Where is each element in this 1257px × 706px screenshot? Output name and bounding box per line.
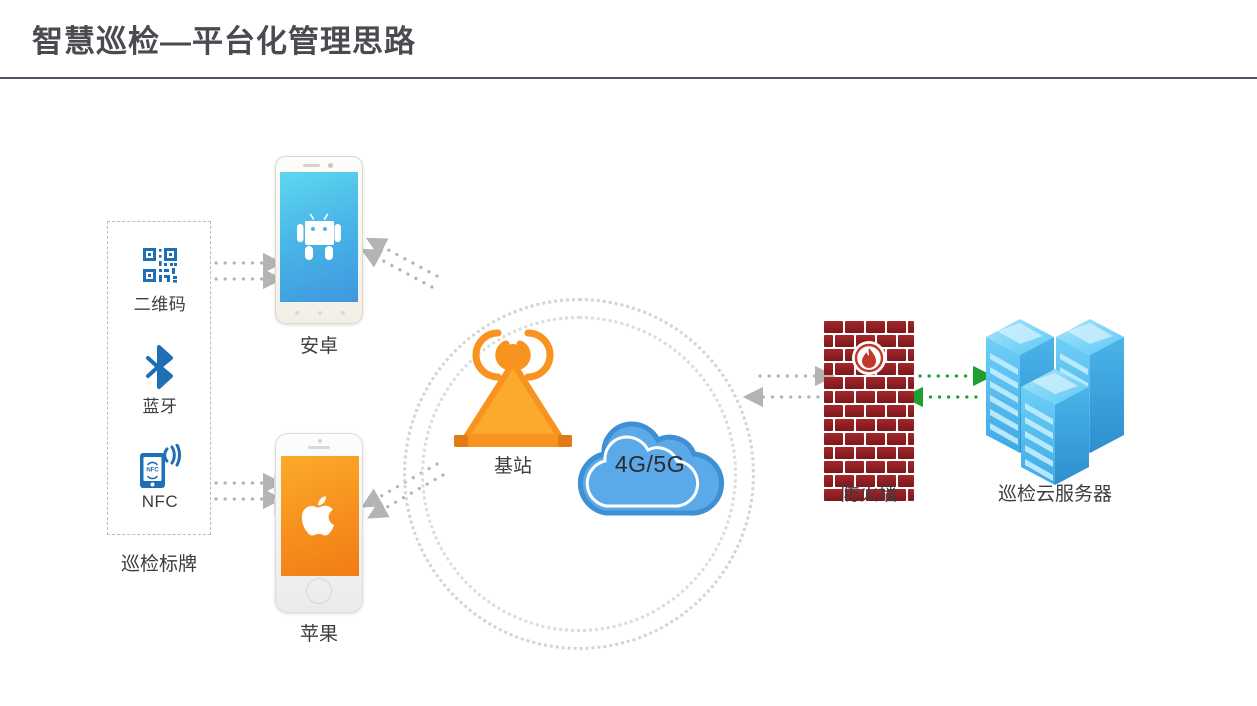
- tag-item-label: 蓝牙: [108, 392, 212, 417]
- cloud-server-label: 巡检云服务器: [975, 479, 1135, 506]
- front-camera: [318, 439, 322, 443]
- cloud-label: 4G/5G: [562, 451, 738, 478]
- connector-tag-to-android: [216, 263, 266, 279]
- android-phone-label: 安卓: [247, 331, 391, 358]
- server-stack-icon: [980, 301, 1130, 501]
- firewall-icon: [824, 321, 914, 501]
- android-robot-icon: [296, 212, 342, 262]
- bluetooth-icon: [108, 344, 212, 390]
- tag-item-qr-code[interactable]: 二维码: [108, 242, 212, 315]
- volume-down-button[interactable]: [274, 498, 276, 515]
- tag-item-bluetooth[interactable]: 蓝牙: [108, 344, 212, 417]
- diagram-canvas: 二维码 蓝牙 NFC: [0, 79, 1257, 706]
- connector-firewall-to-servers: [920, 376, 976, 397]
- android-screen: [280, 172, 358, 302]
- page-header: 智慧巡检—平台化管理思路: [0, 0, 1257, 78]
- earpiece-speaker: [303, 164, 320, 167]
- iphone-device[interactable]: [275, 433, 363, 613]
- inspection-tag-panel[interactable]: 二维码 蓝牙 NFC: [107, 221, 211, 535]
- nfc-icon: NFC: [108, 444, 212, 490]
- tag-panel-label: 巡检标牌: [87, 549, 231, 576]
- cell-tower-icon: [448, 311, 578, 471]
- ios-screen: [281, 456, 359, 576]
- apple-logo-icon: [300, 493, 340, 539]
- firewall-flame-icon: [852, 341, 886, 375]
- connector-network-to-android: [376, 246, 437, 287]
- earpiece-speaker: [308, 446, 330, 449]
- svg-text:NFC: NFC: [146, 468, 159, 474]
- firewall-label: 防火墙: [794, 479, 944, 506]
- tag-item-nfc[interactable]: NFC NFC: [108, 444, 212, 512]
- front-camera: [328, 163, 333, 168]
- cloud-icon: 4G/5G: [562, 409, 738, 527]
- tag-item-label: NFC: [108, 492, 212, 512]
- android-soft-keys[interactable]: [286, 311, 354, 315]
- home-button[interactable]: [306, 578, 332, 604]
- connector-network-to-firewall: [760, 376, 818, 397]
- connector-tag-to-ios: [216, 483, 266, 499]
- page-title: 智慧巡检—平台化管理思路: [32, 16, 416, 61]
- volume-up-button[interactable]: [274, 476, 276, 493]
- android-phone[interactable]: [275, 156, 363, 324]
- tag-item-label: 二维码: [108, 290, 212, 315]
- qr-code-icon: [108, 242, 212, 288]
- iphone-label: 苹果: [247, 619, 391, 646]
